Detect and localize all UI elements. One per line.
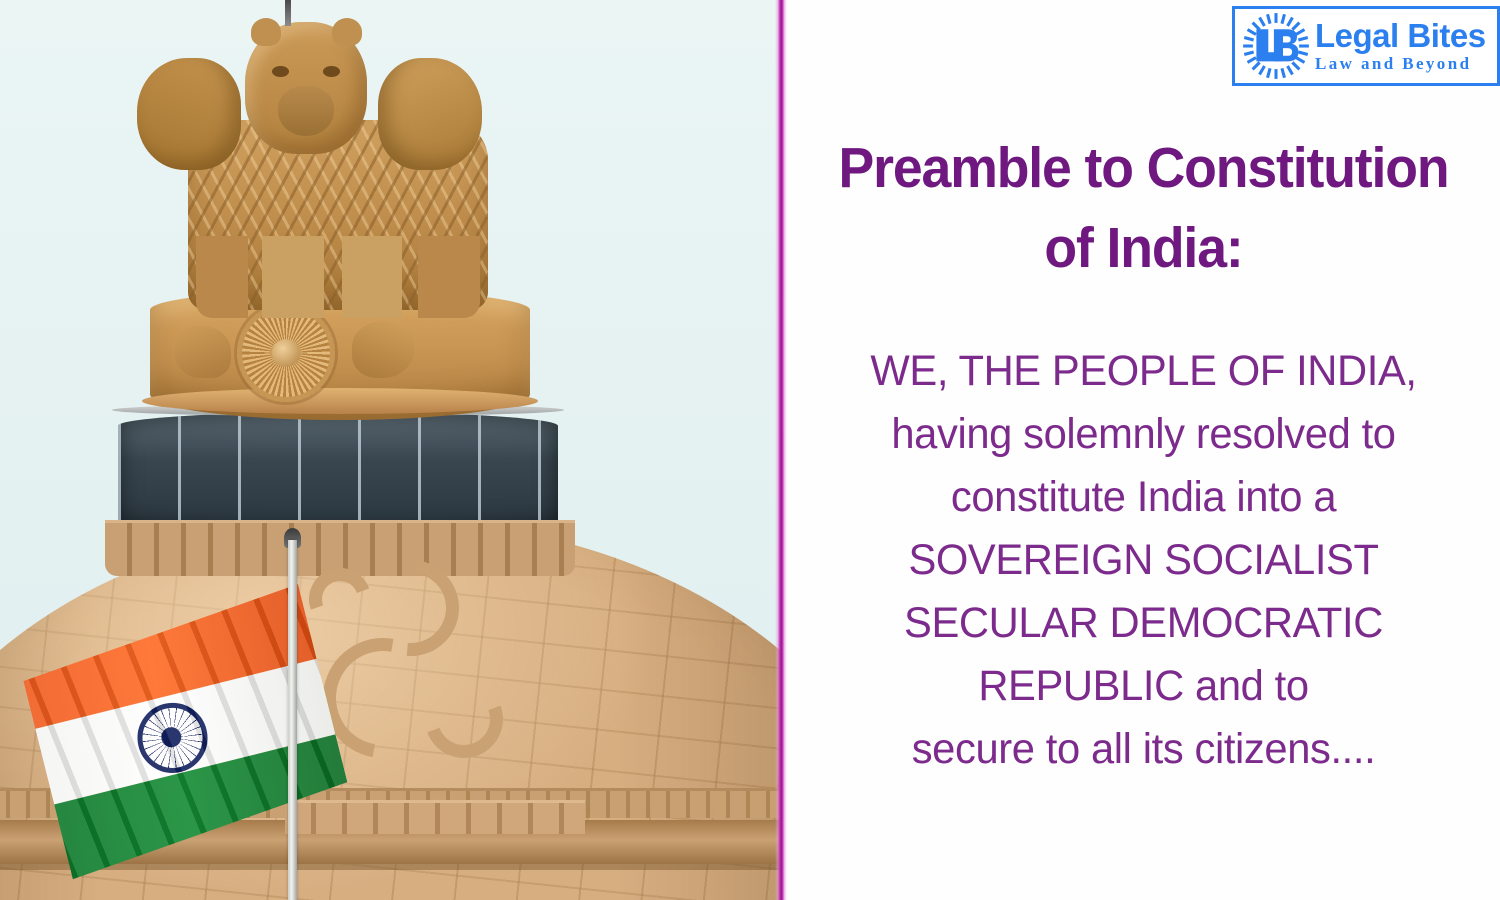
lion-capital-photo: [0, 0, 780, 900]
logo-text-block: Legal Bites Law and Beyond: [1315, 19, 1486, 74]
glass-viewing-gallery: [118, 412, 558, 530]
ornament-plinth: [285, 800, 585, 834]
preamble-text-panel: Preamble to Constitution of India: WE, T…: [787, 0, 1500, 900]
horse-relief-icon: [175, 326, 231, 378]
lion-eye-right: [323, 66, 340, 77]
lion-ear-left: [251, 18, 281, 46]
preamble-body-text: WE, THE PEOPLE OF INDIA, having solemnly…: [807, 340, 1479, 781]
lion-legs: [196, 236, 480, 318]
lion-head-left-icon: [137, 58, 241, 170]
lion-eye-left: [272, 66, 289, 77]
page-canvas: Preamble to Constitution of India: WE, T…: [0, 0, 1500, 900]
logo-tagline: Law and Beyond: [1315, 53, 1486, 74]
vertical-divider: [775, 0, 787, 900]
bull-relief-icon: [352, 322, 414, 378]
legal-bites-monogram-icon: [1241, 11, 1311, 81]
lion-ear-right: [332, 18, 362, 46]
abacus-lip: [142, 388, 538, 414]
legal-bites-logo[interactable]: Legal Bites Law and Beyond: [1232, 6, 1500, 86]
page-title: Preamble to Constitution of India:: [808, 128, 1478, 288]
logo-title: Legal Bites: [1315, 19, 1486, 53]
lightning-finial: [285, 0, 291, 26]
dharma-chakra-hub: [272, 339, 300, 367]
flagpole: [288, 540, 297, 900]
lion-snout: [278, 86, 334, 136]
lion-head-right-icon: [378, 58, 482, 170]
